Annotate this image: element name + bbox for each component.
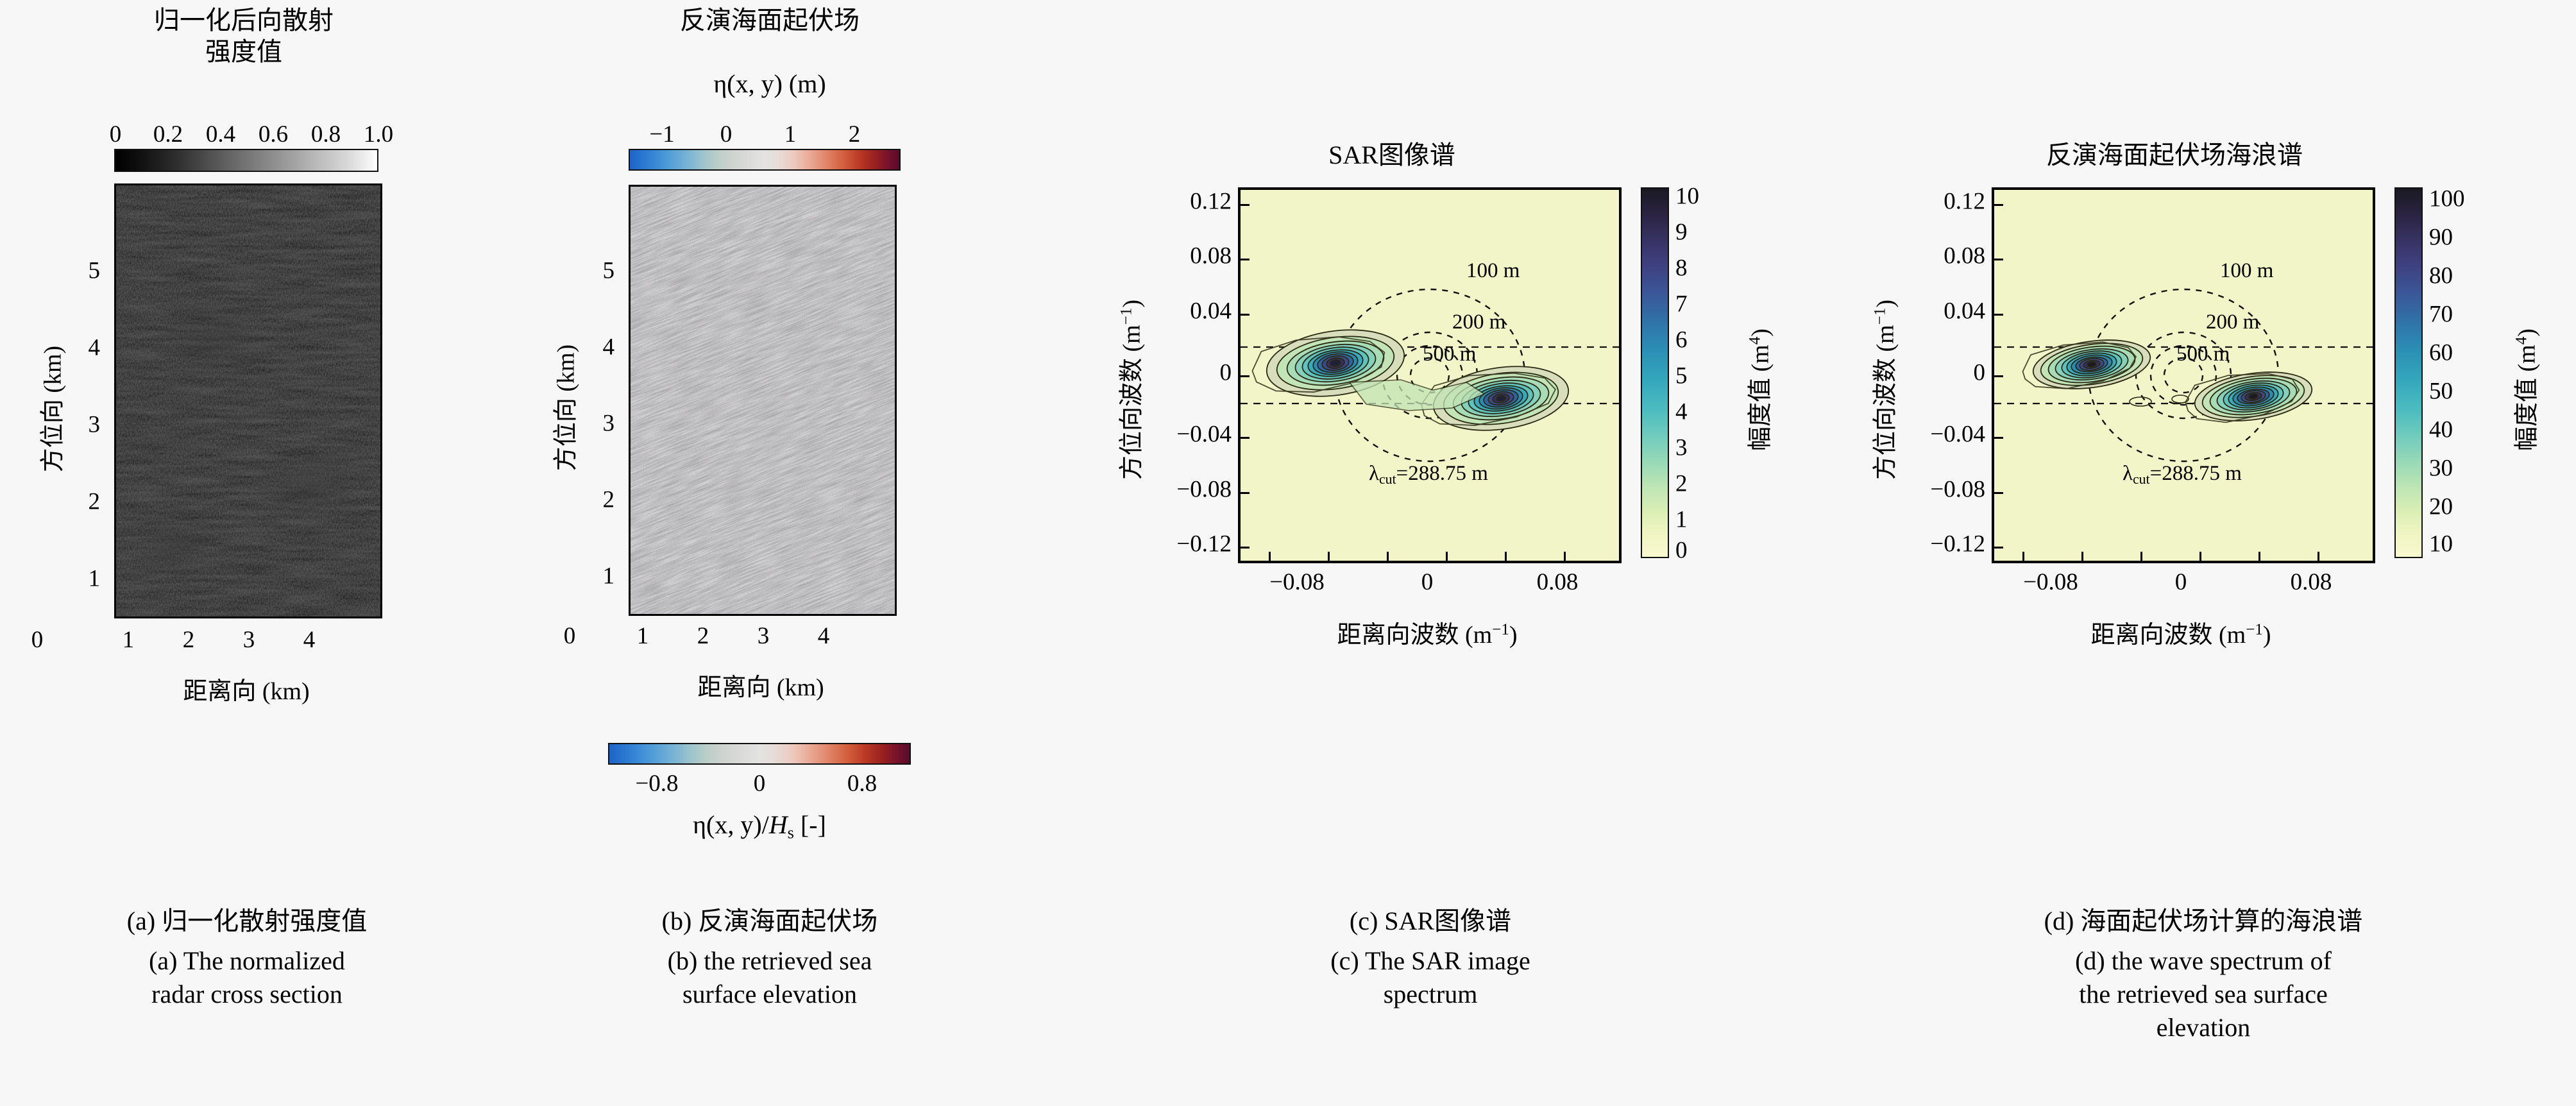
annotation-100m: 100 m (2220, 259, 2273, 283)
cbar-tick: 5 (1675, 362, 1688, 390)
ytick: −0.04 (1176, 421, 1232, 448)
xtick: 1 (123, 626, 135, 654)
panel-d-caption-en: (d) the wave spectrum of the retrieved s… (1873, 944, 2534, 1044)
ytick: 0.12 (1190, 188, 1232, 216)
panel-d-ylabel: 方位向波数 (m−1) 方位向波数 (m⁻¹) (1865, 255, 1901, 525)
annotation-200m: 200 m (2206, 311, 2259, 334)
ytick: 4 (603, 334, 615, 361)
cbar-tick: 0.8 (311, 121, 341, 148)
cbar-tick: 0.4 (206, 121, 235, 148)
ytick: 0 (1220, 359, 1232, 387)
panel-b-colorbar-bottom (608, 743, 911, 765)
panel-d-xticks: −0.08 0 0.08 (1992, 568, 2370, 598)
cbar-tick: 8 (1675, 255, 1688, 282)
ytick-mark (1241, 314, 1250, 316)
cbar-tick: 0.8 (847, 770, 877, 797)
ytick: 3 (89, 411, 101, 439)
ytick: 5 (603, 257, 615, 285)
xtick-mark (1505, 552, 1507, 561)
ytick: 0.12 (1944, 188, 1985, 216)
ytick-mark (1241, 375, 1250, 377)
xtick: 0 (564, 622, 576, 650)
xtick: 4 (303, 626, 316, 654)
annotation-500m: 500 m (2176, 343, 2230, 366)
panel-a-caption-en: (a) The normalized radar cross section (26, 944, 468, 1011)
cbar-tick: 0 (110, 121, 122, 148)
cbar-tick: 60 (2429, 339, 2453, 367)
ytick: 1 (89, 565, 101, 593)
panel-a-image (114, 183, 382, 618)
ytick: −0.12 (1176, 531, 1232, 558)
xtick: 3 (758, 622, 770, 650)
ytick: 2 (603, 486, 615, 514)
panel-a-title: 归一化后向散射 强度值 (51, 5, 436, 68)
panel-c-caption-en: (c) The SAR image spectrum (1187, 944, 1674, 1011)
eta-symbol: η (713, 69, 727, 98)
panel-d: 反演海面起伏场海浪谱 (1835, 0, 2576, 1106)
cbar-tick: 80 (2429, 262, 2453, 290)
cbar-tick: 20 (2429, 493, 2453, 521)
cbar-tick: 30 (2429, 455, 2453, 482)
ytick: 0 (1974, 359, 1986, 387)
cbar-tick: 0.2 (153, 121, 183, 148)
cbar-tick: 0.6 (258, 121, 288, 148)
panel-a-colorbar-ticks: 0 0.2 0.4 0.6 0.8 1.0 (109, 121, 378, 149)
panel-c-xticks: −0.08 0 0.08 (1238, 568, 1616, 598)
panel-a-caption-cn: (a) 归一化散射强度值 (26, 905, 468, 938)
panel-b-xticks: 0 1 2 3 4 (629, 622, 893, 652)
cbar-tick: 1 (784, 121, 797, 148)
xtick: −0.08 (2023, 568, 2078, 596)
panel-c-colorbar (1641, 187, 1669, 558)
cbar-tick: 2 (849, 121, 861, 148)
xtick: 1 (637, 622, 649, 650)
panel-d-colorbar-ticks: 100 90 80 70 60 50 40 30 20 10 (2425, 187, 2496, 558)
cbar-tick: 4 (1675, 398, 1688, 426)
panel-b-image (629, 185, 897, 616)
annotation-cutoff: λcut=288.75 m λcut=288.75 m (2123, 462, 2242, 488)
sea-surface-elevation-raster (631, 187, 895, 614)
cbar-tick: −0.8 (635, 770, 678, 797)
ytick-mark (1994, 204, 2003, 206)
ytick-mark (1994, 492, 2003, 494)
panel-c-xlabel: 距离向波数 (m−1) 距离向波数 (m⁻¹) (1193, 615, 1661, 650)
xtick: 3 (243, 626, 255, 654)
ytick-mark (1241, 547, 1250, 549)
xtick-mark (2258, 552, 2260, 561)
cbar-tick: 0 (754, 770, 766, 797)
panel-c-plot: 100 m 200 m 500 m λcut=288.75 m λcut=288… (1238, 187, 1622, 563)
xtick: 0 (2175, 568, 2187, 596)
cbar-tick: 3 (1675, 434, 1688, 462)
panel-c-spectrum-contours (1241, 190, 1619, 561)
panel-c-caption-cn: (c) SAR图像谱 (1187, 905, 1674, 938)
xtick-mark (2318, 552, 2319, 561)
panel-b: 反演海面起伏场 ηη(x, y) (m)(x, y) (m) −1 0 1 2 (564, 0, 1116, 1106)
xtick-mark (1564, 552, 1566, 561)
ytick: 0.08 (1944, 242, 1985, 270)
annotation-200m: 200 m (1452, 311, 1505, 334)
ytick: −0.04 (1930, 421, 1985, 448)
panel-c-ylabel: 方位向波数 (m−1) 方位向波数 (m⁻¹) (1112, 255, 1147, 525)
panel-b-colorbar-bottom-ticks: −0.8 0 0.8 (608, 770, 911, 799)
cbar-tick: 6 (1675, 327, 1688, 354)
ytick: 5 (89, 257, 101, 285)
xtick-mark (1446, 552, 1448, 561)
xtick: 2 (697, 622, 709, 650)
ytick-mark (1241, 437, 1250, 439)
ytick: 0.04 (1944, 298, 1985, 325)
figure-root: 归一化后向散射 强度值 0 0.2 0.4 0.6 0.8 1.0 (0, 0, 2576, 1106)
panel-c-colorbar-ticks: 10 9 8 7 6 5 4 3 2 1 0 (1672, 187, 1720, 558)
panel-b-ylabel: 方位向 (km) (546, 318, 581, 498)
panel-b-yticks: 5 4 3 2 1 (576, 185, 614, 612)
panel-c-colorbar-label: 幅度值 (m4) 幅度值 (m⁴) (1740, 281, 1775, 499)
cbar-tick: 0 (720, 121, 733, 148)
ytick: −0.12 (1930, 531, 1985, 558)
panel-d-xlabel: 距离向波数 (m−1) 距离向波数 (m⁻¹) (1947, 615, 2415, 650)
cbar-tick: 1 (1675, 506, 1688, 534)
ytick-mark (1994, 375, 2003, 377)
panel-b-colorbar-bottom-label: η(x, y)/Hs [-] η(x, y)/Hs [-] (608, 810, 911, 842)
cbar-tick: 70 (2429, 301, 2453, 328)
xtick: 0.08 (2291, 568, 2332, 596)
cbar-tick: 0 (1675, 537, 1688, 565)
cbar-tick: 7 (1675, 291, 1688, 318)
ytick: 3 (603, 410, 615, 438)
xtick-mark (1387, 552, 1389, 561)
panel-a-ylabel: 方位向 (km) (33, 319, 68, 499)
ytick-mark (1994, 437, 2003, 439)
panel-b-colorbar-top-ticks: −1 0 1 2 (629, 121, 898, 149)
panel-b-caption-cn: (b) 反演海面起伏场 (564, 905, 975, 938)
ytick: 0.04 (1190, 298, 1232, 325)
xtick-mark (2199, 552, 2201, 561)
cbar-tick: 100 (2429, 185, 2465, 213)
xtick-mark (2140, 552, 2142, 561)
sar-intensity-raster (116, 185, 380, 617)
xtick-mark (1328, 552, 1330, 561)
panel-d-caption-cn: (d) 海面起伏场计算的海浪谱 (1873, 905, 2534, 938)
ytick-mark (1994, 259, 2003, 260)
ytick-mark (1241, 204, 1250, 206)
ytick: 1 (603, 563, 615, 590)
xtick: 0 (1421, 568, 1434, 596)
panel-b-subtitle: ηη(x, y) (m)(x, y) (m) (590, 37, 949, 100)
ytick: 2 (89, 488, 101, 516)
annotation-cutoff: λcut=288.75 m λcut=288.75 m (1369, 462, 1488, 488)
panel-c-title: SAR图像谱 (1193, 140, 1591, 171)
panel-b-subtitle-text: (x, y) (m) (727, 69, 826, 98)
panel-a: 归一化后向散射 强度值 0 0.2 0.4 0.6 0.8 1.0 (0, 0, 597, 1106)
annotation-100m: 100 m (1466, 259, 1520, 283)
ytick: 4 (89, 334, 101, 362)
xtick-mark (2081, 552, 2083, 561)
panel-d-plot: 100 m 200 m 500 m λcut=288.75 m λcut=288… (1992, 187, 2375, 563)
cbar-tick: 9 (1675, 219, 1688, 246)
panel-b-xlabel: 距离向 (km) (564, 667, 957, 702)
panel-a-colorbar (114, 149, 378, 172)
xtick: 4 (818, 622, 830, 650)
ytick: 0.08 (1190, 242, 1232, 270)
panel-b-title: 反演海面起伏场 (590, 5, 949, 37)
xtick: −0.08 (1269, 568, 1325, 596)
panel-c: SAR图像谱 (1090, 0, 1835, 1106)
panel-a-xlabel: 距离向 (km) (50, 671, 443, 706)
ytick: −0.08 (1930, 476, 1985, 504)
cbar-tick: 50 (2429, 378, 2453, 405)
annotation-500m: 500 m (1423, 343, 1476, 366)
xtick: 0 (31, 626, 44, 654)
cbar-tick: −1 (649, 121, 674, 148)
ytick-mark (1994, 314, 2003, 316)
panel-d-title: 反演海面起伏场海浪谱 (1950, 140, 2399, 171)
xtick: 2 (183, 626, 195, 654)
cbar-tick: 10 (1675, 183, 1699, 210)
panel-d-spectrum-contours (1994, 190, 2373, 561)
ytick: −0.08 (1176, 476, 1232, 504)
panel-d-colorbar-label: 幅度值 (m4) 幅度值 (m⁴) (2507, 281, 2542, 499)
cbar-tick: 2 (1675, 470, 1688, 498)
xtick-mark (1269, 552, 1271, 561)
xtick-mark (2022, 552, 2024, 561)
ytick-mark (1241, 492, 1250, 494)
panel-a-xticks: 0 1 2 3 4 (114, 626, 378, 656)
ytick-mark (1994, 547, 2003, 549)
panel-d-colorbar (2394, 187, 2423, 558)
xtick: 0.08 (1537, 568, 1579, 596)
cbar-tick: 1.0 (364, 121, 393, 148)
cbar-tick: 40 (2429, 416, 2453, 444)
cbar-tick: 10 (2429, 531, 2453, 558)
panel-b-colorbar-top (629, 149, 901, 171)
ytick-mark (1241, 259, 1250, 260)
panel-b-caption-en: (b) the retrieved sea surface elevation (564, 944, 975, 1011)
cbar-tick: 90 (2429, 224, 2453, 251)
